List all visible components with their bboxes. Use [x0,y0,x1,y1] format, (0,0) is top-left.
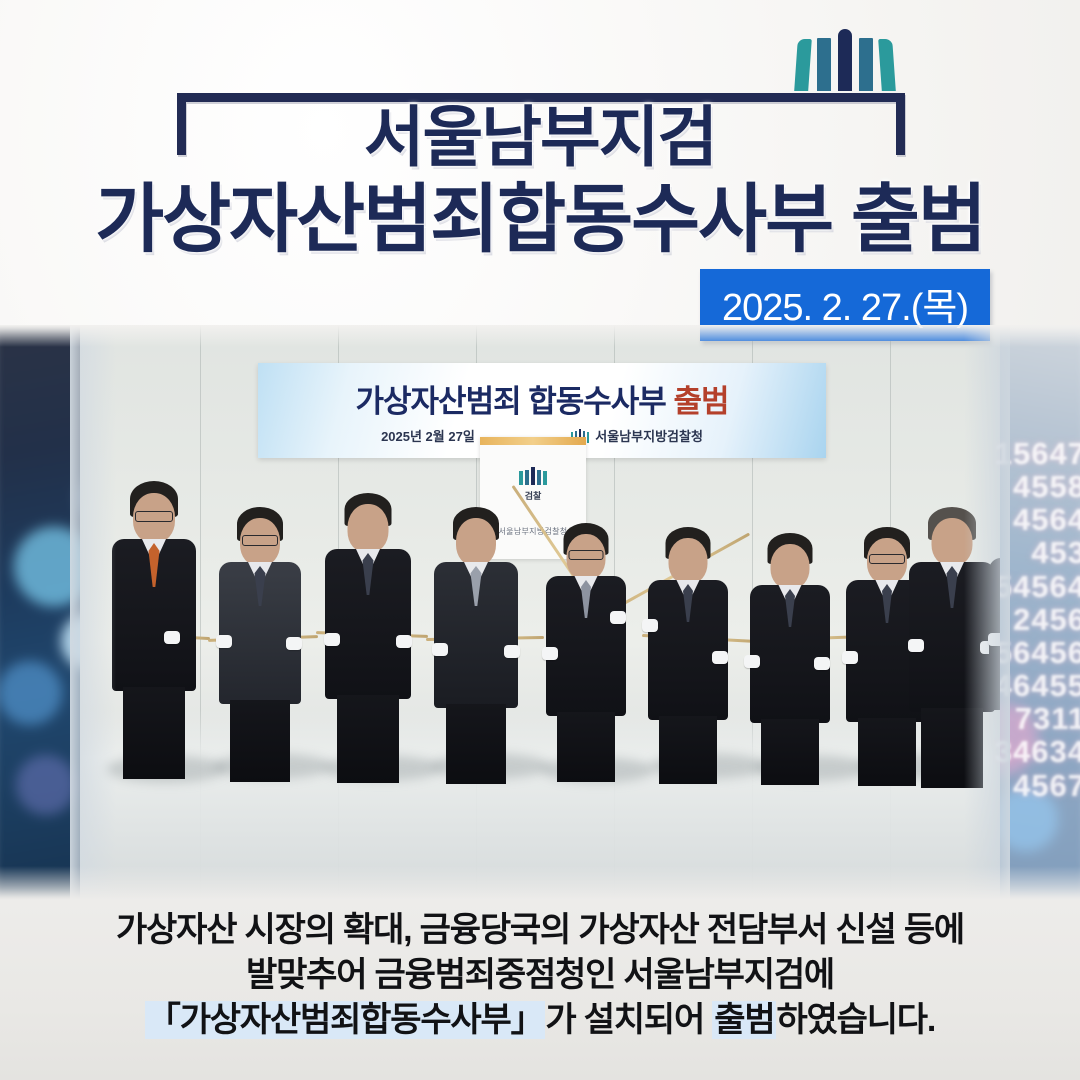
banner-date: 2025년 2월 27일 [381,426,475,445]
official-person [208,507,312,783]
white-glove [164,631,180,644]
caption-highlight-department: 「가상자산범죄합동수사부」 [145,1001,545,1039]
prosecution-emblem-icon [796,29,894,91]
banner-title-main: 가상자산범죄 합동수사부 [356,384,674,419]
white-glove [216,635,232,648]
ceremony-photograph: 가상자산범죄 합동수사부 출범 2025년 2월 27일 서울남부지방검찰청 검… [80,325,1000,900]
emblem-bar-3 [838,29,852,91]
person-head [669,538,708,584]
white-glove [542,647,558,660]
caption-line3-end: 하였습니다. [776,1001,935,1039]
white-glove [504,645,520,658]
white-glove [324,633,340,646]
white-glove [286,637,302,650]
white-glove [814,657,830,670]
poster-title: 서울남부지검 가상자산범죄합동수사부 출범 [0,104,1080,257]
title-line-2: 가상자산범죄합동수사부 출범 [0,182,1080,257]
caption-line-2: 발맞추어 금융범죄중점청인 서울남부지검에 [0,953,1080,998]
caption-line-1: 가상자산 시장의 확대, 금융당국의 가상자산 전담부서 신설 등에 [0,908,1080,953]
caption-line3-middle: 가 설치되어 [545,1001,712,1039]
white-glove [610,611,626,624]
photo-top-feather [0,325,1080,347]
plaque-gold-bar [480,437,586,445]
emblem-bar-4 [859,38,873,91]
official-person [424,507,528,783]
banner-org-label: 서울남부지방검찰청 [595,426,703,445]
photo-right-feather [964,325,1010,900]
person-glasses [242,535,278,546]
person-head [771,544,810,589]
white-glove [432,643,448,656]
official-person [316,493,420,783]
banner-title-highlight: 출범 [673,384,728,419]
person-legs [659,716,717,784]
white-glove [642,619,658,632]
poster-caption: 가상자산 시장의 확대, 금융당국의 가상자산 전담부서 신설 등에 발맞추어 … [0,908,1080,1043]
person-legs [557,712,615,782]
photo-bottom-feather [0,866,1080,900]
poster-header: 서울남부지검 가상자산범죄합동수사부 출범 [0,0,1080,285]
person-legs [230,700,290,782]
white-glove [712,651,728,664]
person-legs [123,687,185,779]
plaque-emblem-icon [480,467,586,485]
title-line-1: 서울남부지검 [0,104,1080,170]
person-head [348,504,389,553]
plaque-word: 검찰 [480,489,586,502]
caption-line-3: 「가상자산범죄합동수사부」가 설치되어 출범하였습니다. [0,998,1080,1043]
white-glove [842,651,858,664]
white-glove [396,635,412,648]
person-glasses [135,511,173,522]
official-person [102,481,206,781]
banner-organization: 서울남부지방검찰청 [571,426,703,445]
emblem-bar-5 [878,39,896,91]
emblem-bar-2 [817,38,831,91]
official-person [536,523,636,781]
caption-highlight-launch: 출범 [712,1001,776,1039]
person-legs [761,719,819,785]
white-glove [744,655,760,668]
white-glove [908,639,924,652]
person-legs [446,704,506,784]
ceremony-photo-strip: 15647 4558 4564 453 54564 2456 56456 464… [0,325,1080,900]
photo-left-feather [70,325,116,900]
person-head [456,518,496,566]
banner-title: 가상자산범죄 합동수사부 출범 [258,376,826,421]
person-legs [337,695,399,783]
official-person [740,533,840,783]
official-person [638,527,738,783]
person-glasses [569,550,604,560]
emblem-bar-1 [794,39,812,91]
